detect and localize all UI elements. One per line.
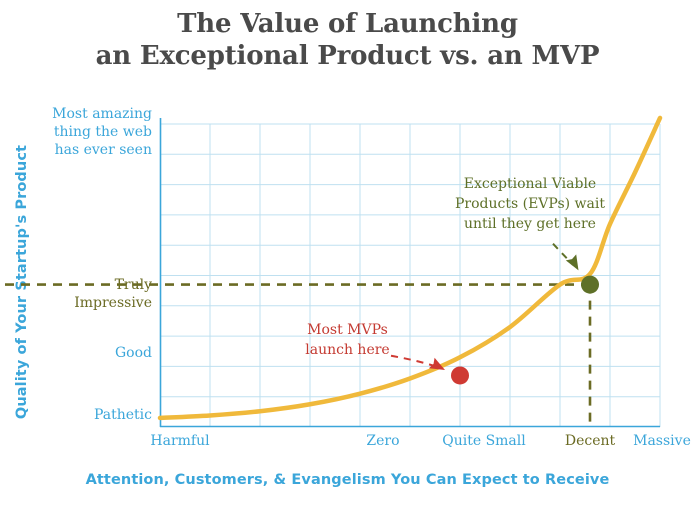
y-tick-line-2: Impressive xyxy=(12,294,152,312)
plot-area xyxy=(160,124,660,427)
annotation-evp-line-1: Exceptional Viable xyxy=(415,174,645,194)
x-tick-harmful: Harmful xyxy=(120,432,240,450)
annotation-arrows xyxy=(391,244,584,376)
chart-figure: The Value of Launching an Exceptional Pr… xyxy=(0,0,695,508)
annotation-mvp: Most MVPs launch here xyxy=(280,320,415,360)
annotation-evp-line-3: until they get here xyxy=(415,214,645,234)
chart-title-line-1: The Value of Launching xyxy=(177,9,518,39)
y-tick-truly-impressive: Truly Impressive xyxy=(12,276,152,312)
evp-point xyxy=(581,276,599,294)
x-tick-massive: Massive xyxy=(602,432,695,450)
y-tick-good: Good xyxy=(12,344,152,362)
chart-title-line-2: an Exceptional Product vs. an MVP xyxy=(0,40,695,72)
y-tick-line-1: Truly xyxy=(12,276,152,294)
gridlines xyxy=(160,124,660,427)
y-tick-line-2: thing the web xyxy=(12,123,152,141)
data-point-markers xyxy=(451,276,599,385)
annotation-mvp-line-1: Most MVPs xyxy=(280,320,415,340)
y-tick-line-1: Most amazing xyxy=(12,105,152,123)
annotation-mvp-line-2: launch here xyxy=(280,340,415,360)
chart-title: The Value of Launching an Exceptional Pr… xyxy=(0,8,695,72)
mvp-point xyxy=(451,366,469,384)
plot-svg xyxy=(160,124,660,427)
x-axis-title: Attention, Customers, & Evangelism You C… xyxy=(0,472,695,488)
evp-arrow-head xyxy=(566,254,584,273)
x-tick-quite-small: Quite Small xyxy=(424,432,544,450)
y-tick-line-3: has ever seen xyxy=(12,141,152,159)
annotation-evp-line-2: Products (EVPs) wait xyxy=(415,194,645,214)
y-tick-most-amazing: Most amazing thing the web has ever seen xyxy=(12,105,152,159)
y-tick-pathetic: Pathetic xyxy=(12,406,152,424)
annotation-evp: Exceptional Viable Products (EVPs) wait … xyxy=(415,174,645,234)
